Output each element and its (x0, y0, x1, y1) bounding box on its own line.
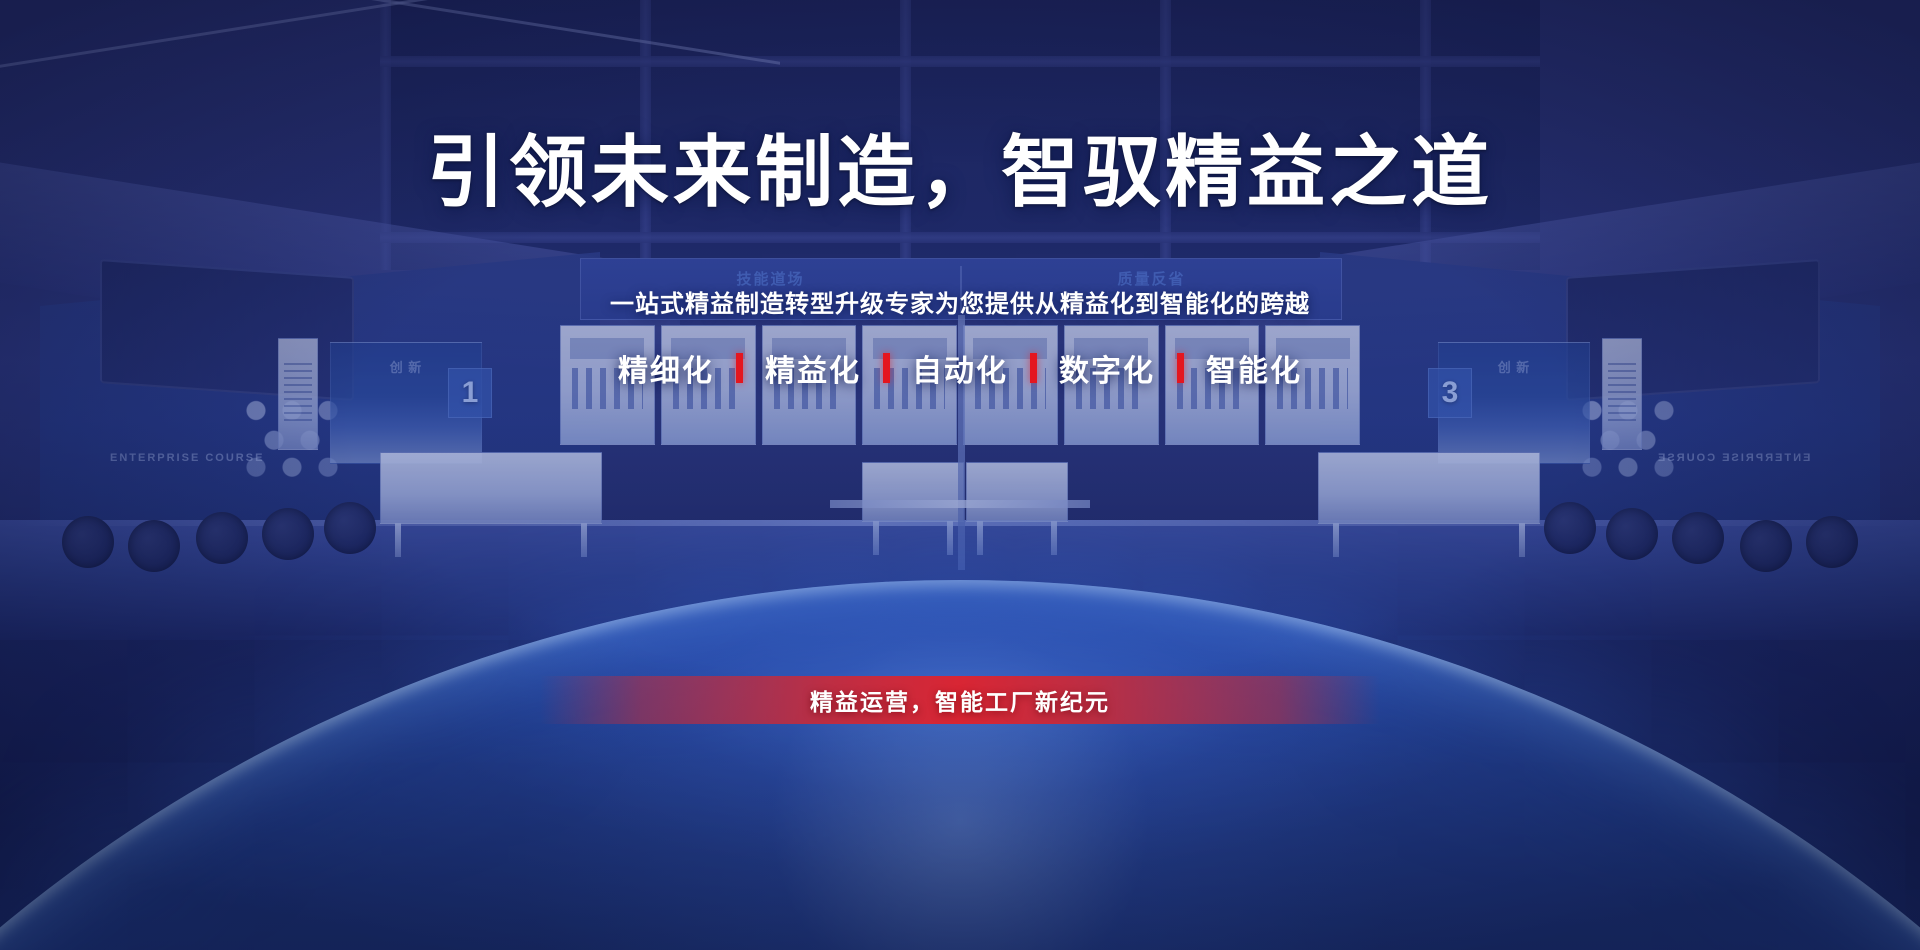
workstation-cabinet (1064, 325, 1159, 445)
workstation-cabinet (762, 325, 857, 445)
workbench-left (380, 452, 602, 524)
booth-poster-left (278, 338, 318, 450)
slogan-ribbon: 精益运营，智能工厂新纪元 (540, 676, 1380, 724)
window-mullion-vertical (1420, 0, 1431, 270)
signage-cn-label: 质量反省 (962, 271, 1341, 288)
signage-en-label: QUALITY REFLECTION (962, 288, 1341, 308)
window-mullion-horizontal (380, 56, 1540, 67)
signage-panel-quality-reflection: 质量反省 QUALITY REFLECTION (962, 271, 1341, 308)
ceiling-window-glass (380, 0, 1540, 270)
hero-banner: ENTERPRISE COURSE ENTERPRISE COURSE 创 新 … (0, 0, 1920, 950)
window-mullion-vertical (900, 0, 911, 270)
booth-number-marker: 1 (448, 368, 492, 418)
slogan-text: 精益运营，智能工厂新纪元 (810, 683, 1110, 717)
workstation-cabinet (1265, 325, 1360, 445)
workstation-cabinet (661, 325, 756, 445)
signage-en-label: SKILL DOJO (581, 288, 960, 308)
booth-poster-right (1602, 338, 1642, 450)
poster-text-lines (1608, 363, 1637, 425)
signage-cn-label: 技能道场 (581, 271, 960, 288)
earth-scene (0, 520, 1920, 950)
earth-atmosphere-rim (0, 580, 1920, 950)
signage-panel-skill-dojo: 技能道场 SKILL DOJO (581, 271, 960, 308)
workstation-cabinet (862, 325, 957, 445)
workstation-cabinet (1165, 325, 1260, 445)
window-mullion-horizontal (380, 232, 1540, 243)
window-mullion-vertical (1160, 0, 1171, 270)
workstation-cabinet (963, 325, 1058, 445)
booth-number-marker: 3 (1428, 368, 1472, 418)
workbench-right (1318, 452, 1540, 524)
workstation-cabinet (560, 325, 655, 445)
workbench-center-left (862, 462, 964, 522)
poster-text-lines (284, 363, 313, 425)
back-wall-signage: 技能道场 SKILL DOJO 质量反省 QUALITY REFLECTION (580, 258, 1342, 320)
conveyor-rail (830, 500, 1090, 508)
workbench-center-right (966, 462, 1068, 522)
